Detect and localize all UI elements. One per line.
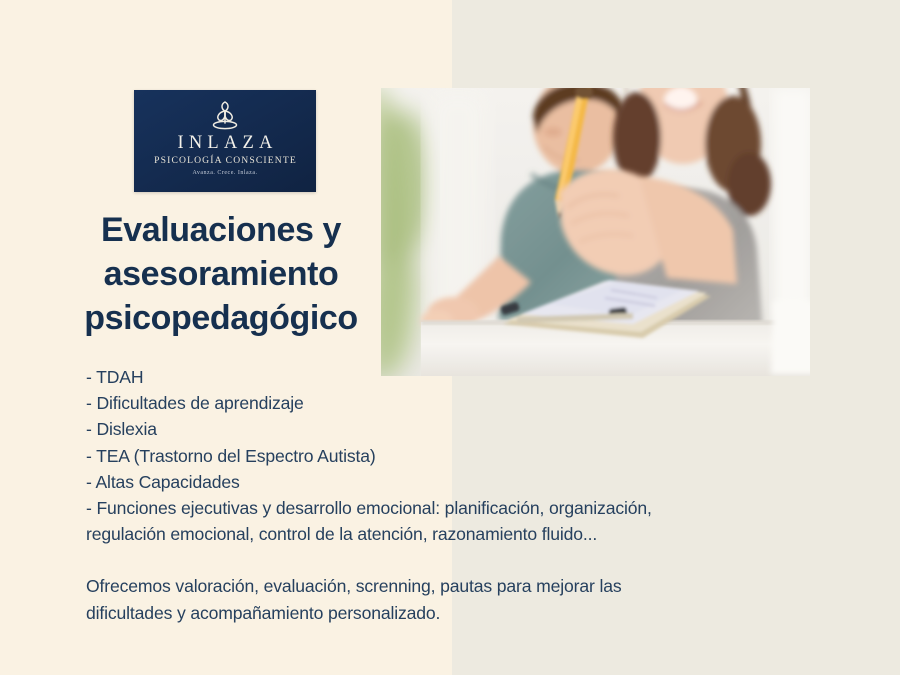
list-item: - Dificultades de aprendizaje bbox=[86, 390, 826, 416]
list-item: - Dislexia bbox=[86, 416, 826, 442]
lotus-mind-emblem-icon bbox=[205, 99, 245, 133]
headline-line-3: psicopedagógico bbox=[62, 296, 380, 340]
list-item-long-line-1: - Funciones ejecutivas y desarrollo emoc… bbox=[86, 495, 826, 521]
inlaza-logo-card: INLAZA PSICOLOGÍA CONSCIENTE Avanza. Cre… bbox=[134, 90, 316, 192]
list-item: - Altas Capacidades bbox=[86, 469, 826, 495]
list-item-long-line-2: regulación emocional, control de la aten… bbox=[86, 521, 826, 547]
logo-subtitle: PSICOLOGÍA CONSCIENTE bbox=[153, 156, 297, 166]
logo-tagline: Avanza. Crece. Inlaza. bbox=[192, 170, 257, 176]
closing-line-2: dificultades y acompañamiento personaliz… bbox=[86, 600, 826, 626]
list-item: - TDAH bbox=[86, 364, 826, 390]
closing-paragraph: Ofrecemos valoración, evaluación, screnn… bbox=[86, 573, 826, 625]
list-item: - TEA (Trastorno del Espectro Autista) bbox=[86, 443, 826, 469]
logo-brand-name: INLAZA bbox=[172, 134, 277, 153]
closing-line-1: Ofrecemos valoración, evaluación, screnn… bbox=[86, 573, 826, 599]
tutoring-session-photo bbox=[381, 88, 810, 376]
poster-canvas: INLAZA PSICOLOGÍA CONSCIENTE Avanza. Cre… bbox=[0, 0, 900, 675]
services-description: - TDAH - Dificultades de aprendizaje - D… bbox=[86, 364, 826, 626]
headline-line-1: Evaluaciones y bbox=[62, 208, 380, 252]
headline-line-2: asesoramiento bbox=[62, 252, 380, 296]
photo-artwork bbox=[381, 88, 810, 376]
page-title: Evaluaciones y asesoramiento psicopedagó… bbox=[62, 208, 380, 341]
